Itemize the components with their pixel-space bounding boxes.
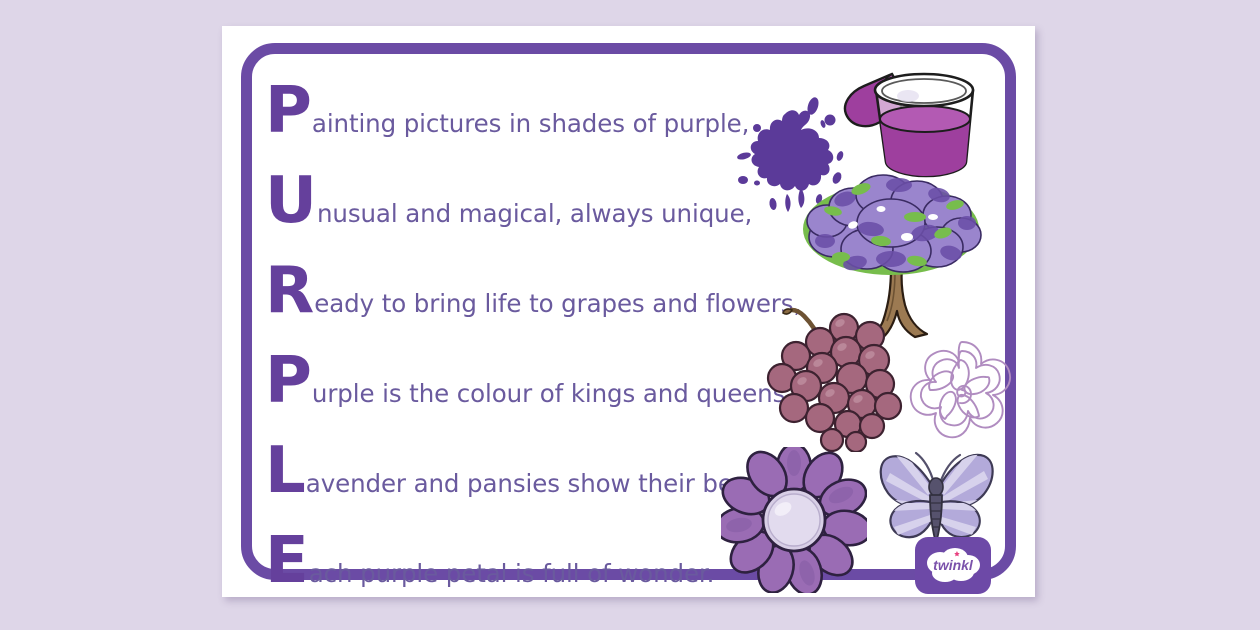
poem-line-4-text: urple is the colour of kings and queens,: [311, 382, 793, 407]
poem-line-1-text: ainting pictures in shades of purple,: [311, 112, 749, 137]
poem-line-6-text: ach purple petal is full of wonder.: [308, 562, 715, 587]
drop-cap-letter-e: E: [265, 529, 308, 593]
poem-line-2: U nusual and magical, always unique,: [265, 169, 752, 259]
drop-cap-letter-p2: P: [265, 349, 311, 413]
drop-cap-letter-l: L: [265, 439, 305, 503]
poem-line-2-text: nusual and magical, always unique,: [316, 202, 752, 227]
drop-cap-letter-r: R: [265, 259, 313, 323]
twinkl-cloud-logo: twinkl: [921, 546, 985, 586]
poster-card: P ainting pictures in shades of purple, …: [222, 26, 1035, 597]
drop-cap-letter-u: U: [265, 169, 316, 233]
poem-line-6: E ach purple petal is full of wonder.: [265, 529, 714, 619]
drop-cap-letter-p1: P: [265, 79, 311, 143]
poem-line-5: L avender and pansies show their beauty,: [265, 439, 795, 529]
poem-line-4: P urple is the colour of kings and queen…: [265, 349, 793, 439]
poem-line-5-text: avender and pansies show their beauty,: [305, 472, 795, 497]
acrostic-poem: P ainting pictures in shades of purple, …: [265, 59, 785, 559]
twinkl-logo-badge[interactable]: twinkl: [915, 537, 991, 594]
poem-line-3-text: eady to bring life to grapes and flowers…: [313, 292, 801, 317]
poem-line-1: P ainting pictures in shades of purple,: [265, 79, 749, 169]
poem-line-3: R eady to bring life to grapes and flowe…: [265, 259, 801, 349]
twinkl-wordmark: twinkl: [933, 557, 974, 573]
